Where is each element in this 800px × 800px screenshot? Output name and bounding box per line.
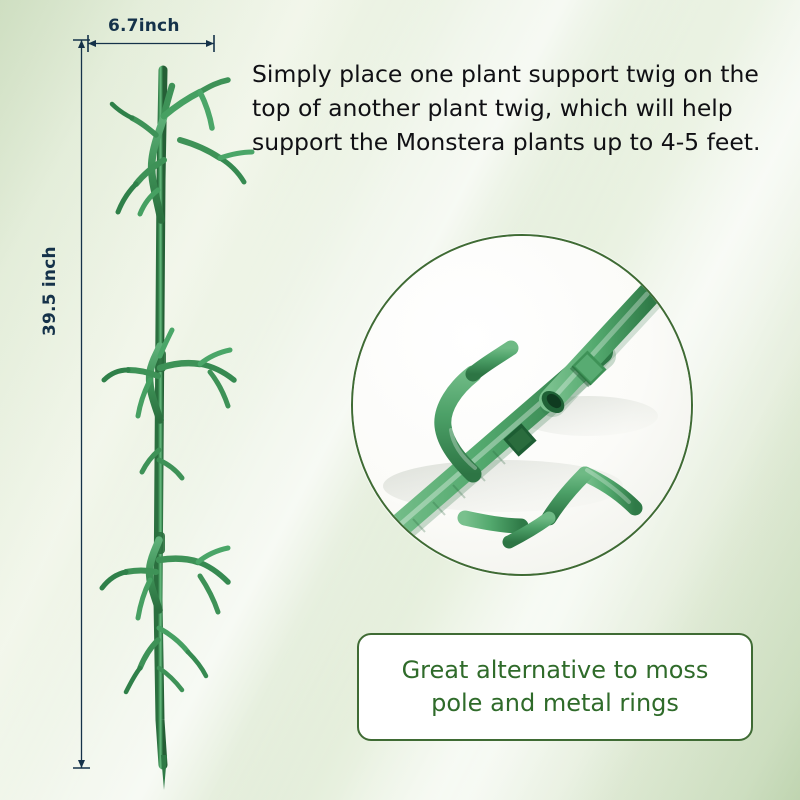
caption-line-2: pole and metal rings	[402, 687, 709, 720]
headline-text: Simply place one plant support twig on t…	[252, 57, 790, 159]
product-infographic: 6.7inch 39.5 inch Simply place one plant…	[0, 0, 800, 800]
connector-joint-closeup	[353, 236, 691, 574]
caption-line-1: Great alternative to moss	[402, 654, 709, 687]
height-dimension-label: 39.5 inch	[40, 246, 60, 336]
dimension-height-marker	[70, 34, 92, 774]
width-dimension-label: 6.7inch	[108, 16, 180, 36]
caption-text: Great alternative to moss pole and metal…	[392, 654, 719, 720]
caption-box: Great alternative to moss pole and metal…	[357, 633, 753, 741]
zoom-detail-circle	[351, 234, 693, 576]
